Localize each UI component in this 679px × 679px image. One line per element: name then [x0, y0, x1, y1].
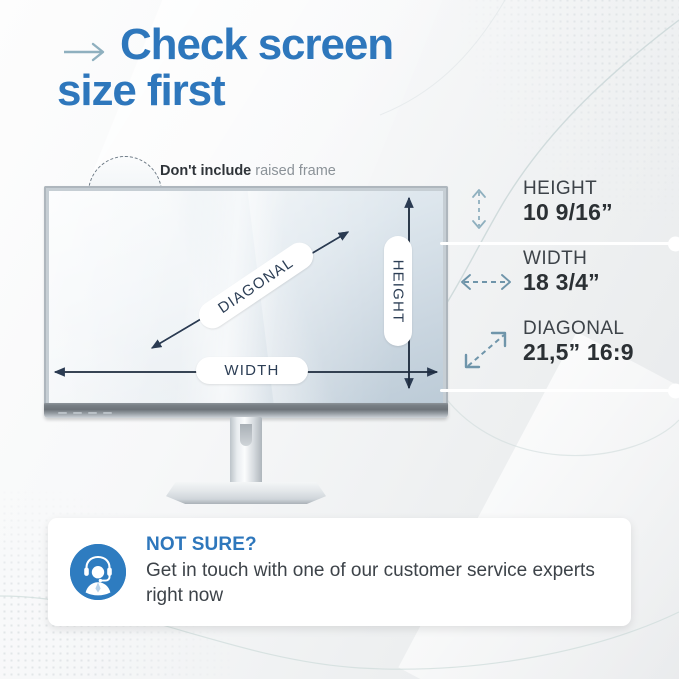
spec-label-diagonal: DIAGONAL	[523, 318, 634, 339]
monitor-bottom-bezel	[44, 403, 448, 418]
monitor-stand-neck	[230, 417, 262, 490]
label-height: HEIGHT	[384, 236, 412, 346]
spec-text-height: HEIGHT 10 9/16”	[523, 178, 613, 226]
spec-value-height: 10 9/16”	[523, 199, 613, 226]
spec-row-height: HEIGHT 10 9/16”	[455, 176, 679, 246]
spec-value-diagonal: 21,5” 16:9	[523, 339, 634, 366]
spec-divider-1	[440, 242, 679, 245]
monitor-button-4[interactable]	[103, 412, 112, 414]
monitor-control-buttons[interactable]	[58, 412, 112, 414]
page-title-line-2: size first	[57, 68, 527, 114]
raised-frame-note: Don't include raised frame	[160, 163, 336, 179]
page-title-block: Check screen size first	[57, 22, 527, 114]
headset-agent-icon	[70, 544, 126, 600]
measurement-specs-panel: HEIGHT 10 9/16” WIDTH 18 3/4”	[455, 176, 679, 386]
monitor-button-1[interactable]	[58, 412, 67, 414]
spec-label-height: HEIGHT	[523, 178, 613, 199]
spec-value-width: 18 3/4”	[523, 269, 600, 296]
monitor-button-3[interactable]	[88, 412, 97, 414]
spec-row-width: WIDTH 18 3/4”	[455, 246, 679, 316]
spec-text-diagonal: DIAGONAL 21,5” 16:9	[523, 318, 634, 366]
monitor-stand-base	[166, 482, 326, 504]
spec-row-diagonal: DIAGONAL 21,5” 16:9	[455, 316, 679, 386]
page-title: Check screen size first	[120, 22, 527, 114]
support-card[interactable]: NOT SURE? Get in touch with one of our c…	[48, 518, 631, 626]
monitor-button-2[interactable]	[73, 412, 82, 414]
spec-text-width: WIDTH 18 3/4”	[523, 248, 600, 296]
arrow-right-icon	[63, 41, 109, 63]
horizontal-dashed-arrow-icon	[455, 252, 517, 306]
label-height-text: HEIGHT	[390, 259, 407, 323]
infographic-canvas: Check screen size first Don't include ra…	[0, 0, 679, 679]
page-title-line-1: Check screen	[120, 20, 393, 69]
vertical-dashed-arrow-icon	[455, 182, 517, 236]
spec-divider-2	[440, 389, 679, 392]
label-width-text: WIDTH	[224, 362, 279, 379]
label-width: WIDTH	[196, 357, 308, 384]
raised-frame-note-bold: Don't include	[160, 163, 251, 179]
support-body: Get in touch with one of our customer se…	[146, 559, 609, 608]
monitor-stand-slot	[240, 424, 252, 446]
spec-label-width: WIDTH	[523, 248, 600, 269]
diagonal-dashed-arrow-icon	[455, 322, 517, 376]
support-title: NOT SURE?	[146, 534, 609, 556]
support-text-block: NOT SURE? Get in touch with one of our c…	[146, 534, 609, 610]
raised-frame-note-light: raised frame	[255, 163, 336, 179]
